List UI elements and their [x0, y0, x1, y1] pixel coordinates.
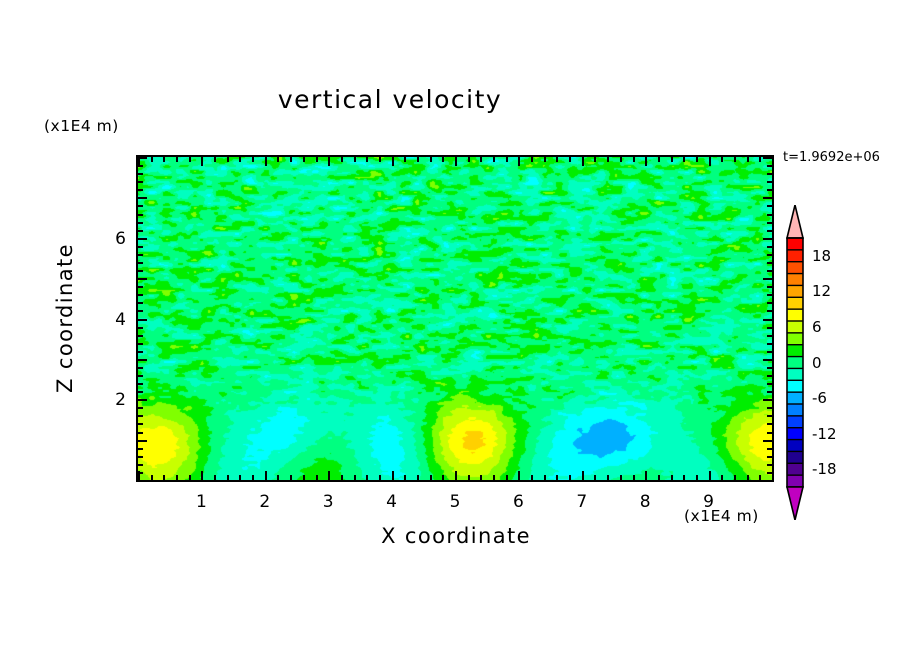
y-minor-tick-right [767, 432, 772, 434]
y-minor-tick [138, 189, 143, 191]
colorbar-band [787, 368, 803, 380]
y-minor-tick-right [767, 254, 772, 256]
y-minor-tick [138, 262, 143, 264]
x-minor-tick-top [556, 157, 558, 162]
x-minor-tick-top [354, 157, 356, 162]
y-major-tick [138, 359, 147, 361]
y-minor-tick [138, 222, 143, 224]
x-major-tick [455, 471, 457, 480]
y-major-tick [138, 480, 147, 482]
y-tick-label: 2 [86, 390, 126, 410]
y-minor-tick-right [767, 230, 772, 232]
x-minor-tick [316, 475, 318, 480]
x-major-tick [518, 471, 520, 480]
x-minor-tick [151, 475, 153, 480]
x-minor-tick [189, 475, 191, 480]
x-minor-tick-top [417, 157, 419, 162]
x-minor-tick [658, 475, 660, 480]
colorbar-band [787, 404, 803, 416]
x-tick-label: 9 [689, 492, 729, 512]
x-minor-tick-top [163, 157, 165, 162]
y-major-tick [138, 319, 147, 321]
x-minor-tick-top [493, 157, 495, 162]
y-minor-tick [138, 335, 143, 337]
colorbar-band [787, 285, 803, 297]
colorbar-band [787, 274, 803, 286]
x-major-tick-top [518, 157, 520, 166]
x-minor-tick-top [252, 157, 254, 162]
x-major-tick-top [201, 157, 203, 166]
colorbar-tick-label: -12 [812, 425, 837, 443]
x-minor-tick-top [544, 157, 546, 162]
x-minor-tick [696, 475, 698, 480]
x-minor-tick [607, 475, 609, 480]
colorbar-tick-label: -18 [812, 460, 837, 478]
y-minor-tick [138, 472, 143, 474]
colorbar-band [787, 475, 803, 487]
y-minor-tick [138, 456, 143, 458]
x-minor-tick-top [442, 157, 444, 162]
y-major-tick [138, 197, 147, 199]
x-minor-tick [430, 475, 432, 480]
colorbar-band [787, 392, 803, 404]
y-minor-tick [138, 423, 143, 425]
x-major-tick-top [392, 157, 394, 166]
y-minor-tick-right [767, 351, 772, 353]
y-minor-tick-right [767, 327, 772, 329]
x-minor-tick [569, 475, 571, 480]
x-minor-tick-top [189, 157, 191, 162]
x-minor-tick-top [366, 157, 368, 162]
colorbar-band [787, 321, 803, 333]
x-major-tick [772, 471, 774, 480]
y-minor-tick [138, 302, 143, 304]
y-minor-tick [138, 286, 143, 288]
x-minor-tick [531, 475, 533, 480]
y-minor-tick [138, 327, 143, 329]
y-major-tick [138, 440, 147, 442]
y-major-tick-right [763, 319, 772, 321]
x-minor-tick [303, 475, 305, 480]
page-title: vertical velocity [0, 85, 780, 114]
y-major-tick-right [763, 238, 772, 240]
x-major-tick-top [709, 157, 711, 166]
x-minor-tick [214, 475, 216, 480]
y-minor-tick [138, 294, 143, 296]
y-major-tick [138, 278, 147, 280]
y-minor-tick-right [767, 173, 772, 175]
y-minor-tick [138, 173, 143, 175]
y-major-tick-right [763, 157, 772, 159]
x-minor-tick-top [594, 157, 596, 162]
y-minor-tick-right [767, 214, 772, 216]
x-minor-tick-top [658, 157, 660, 162]
x-minor-tick [759, 475, 761, 480]
colorbar-band [787, 345, 803, 357]
colorbar-under-arrow [787, 487, 803, 520]
y-minor-tick-right [767, 383, 772, 385]
x-major-tick-top [772, 157, 774, 166]
y-minor-tick [138, 351, 143, 353]
y-minor-tick [138, 246, 143, 248]
x-minor-tick-top [290, 157, 292, 162]
y-axis-unit-label: (x1E4 m) [44, 117, 119, 135]
y-axis-title: Z coordinate [53, 188, 77, 448]
colorbar-band [787, 297, 803, 309]
x-major-tick-top [582, 157, 584, 166]
y-major-tick-right [763, 278, 772, 280]
x-minor-tick [493, 475, 495, 480]
time-annotation: t=1.9692e+06 [783, 150, 880, 165]
colorbar-tick-label: 12 [812, 282, 831, 300]
colorbar-over-arrow [787, 205, 803, 238]
x-minor-tick-top [620, 157, 622, 162]
x-minor-tick [671, 475, 673, 480]
x-minor-tick-top [316, 157, 318, 162]
x-tick-label: 6 [498, 492, 538, 512]
colorbar-band [787, 333, 803, 345]
y-minor-tick [138, 310, 143, 312]
colorbar-tick-label: 6 [812, 318, 822, 336]
y-minor-tick [138, 432, 143, 434]
colorbar-band [787, 262, 803, 274]
x-major-tick-top [645, 157, 647, 166]
colorbar-band [787, 250, 803, 262]
y-minor-tick-right [767, 375, 772, 377]
y-minor-tick [138, 464, 143, 466]
y-minor-tick [138, 375, 143, 377]
colorbar-band [787, 440, 803, 452]
y-minor-tick-right [767, 205, 772, 207]
x-tick-label: 5 [435, 492, 475, 512]
x-minor-tick [506, 475, 508, 480]
x-minor-tick [683, 475, 685, 480]
x-minor-tick [341, 475, 343, 480]
colorbar-band [787, 463, 803, 475]
x-major-tick [265, 471, 267, 480]
x-major-tick [709, 471, 711, 480]
x-tick-label: 1 [181, 492, 221, 512]
x-minor-tick [633, 475, 635, 480]
y-minor-tick-right [767, 270, 772, 272]
y-minor-tick-right [767, 189, 772, 191]
colorbar-band [787, 380, 803, 392]
y-major-tick [138, 238, 147, 240]
x-minor-tick-top [607, 157, 609, 162]
y-minor-tick-right [767, 310, 772, 312]
y-major-tick-right [763, 197, 772, 199]
x-minor-tick-top [531, 157, 533, 162]
y-minor-tick-right [767, 294, 772, 296]
x-tick-label: 7 [562, 492, 602, 512]
x-minor-tick [734, 475, 736, 480]
y-minor-tick-right [767, 246, 772, 248]
x-minor-tick [277, 475, 279, 480]
y-minor-tick-right [767, 423, 772, 425]
y-minor-tick-right [767, 165, 772, 167]
y-minor-tick-right [767, 286, 772, 288]
y-major-tick-right [763, 359, 772, 361]
x-minor-tick-top [480, 157, 482, 162]
x-minor-tick [252, 475, 254, 480]
colorbar-band [787, 416, 803, 428]
y-minor-tick-right [767, 448, 772, 450]
y-minor-tick [138, 165, 143, 167]
x-minor-tick-top [696, 157, 698, 162]
x-minor-tick-top [506, 157, 508, 162]
x-major-tick [328, 471, 330, 480]
y-minor-tick [138, 181, 143, 183]
x-minor-tick-top [569, 157, 571, 162]
y-major-tick-right [763, 440, 772, 442]
y-minor-tick [138, 367, 143, 369]
y-minor-tick-right [767, 181, 772, 183]
x-minor-tick [594, 475, 596, 480]
x-minor-tick [379, 475, 381, 480]
y-major-tick [138, 399, 147, 401]
y-minor-tick [138, 205, 143, 207]
x-minor-tick [556, 475, 558, 480]
colorbar [782, 205, 808, 520]
x-minor-tick-top [633, 157, 635, 162]
x-minor-tick-top [303, 157, 305, 162]
x-minor-tick [239, 475, 241, 480]
x-minor-tick-top [151, 157, 153, 162]
x-minor-tick [747, 475, 749, 480]
x-minor-tick [290, 475, 292, 480]
x-minor-tick-top [683, 157, 685, 162]
y-minor-tick [138, 230, 143, 232]
x-major-tick-top [265, 157, 267, 166]
y-major-tick-right [763, 480, 772, 482]
x-minor-tick [176, 475, 178, 480]
colorbar-tick-label: 0 [812, 354, 822, 372]
x-minor-tick-top [759, 157, 761, 162]
x-minor-tick [354, 475, 356, 480]
y-minor-tick-right [767, 302, 772, 304]
x-minor-tick-top [214, 157, 216, 162]
y-minor-tick-right [767, 407, 772, 409]
colorbar-band [787, 451, 803, 463]
y-minor-tick [138, 415, 143, 417]
x-major-tick [392, 471, 394, 480]
y-minor-tick [138, 391, 143, 393]
x-minor-tick [366, 475, 368, 480]
x-minor-tick [721, 475, 723, 480]
x-axis-title: X coordinate [236, 524, 676, 548]
x-minor-tick [404, 475, 406, 480]
x-major-tick-top [328, 157, 330, 166]
x-minor-tick-top [430, 157, 432, 162]
x-minor-tick-top [341, 157, 343, 162]
x-minor-tick [620, 475, 622, 480]
colorbar-band [787, 428, 803, 440]
y-minor-tick [138, 270, 143, 272]
colorbar-tick-label: 18 [812, 247, 831, 265]
x-minor-tick [468, 475, 470, 480]
contour-field [138, 157, 772, 480]
x-minor-tick [417, 475, 419, 480]
x-major-tick-top [455, 157, 457, 166]
x-minor-tick-top [468, 157, 470, 162]
x-minor-tick-top [277, 157, 279, 162]
y-minor-tick [138, 214, 143, 216]
x-tick-label: 3 [308, 492, 348, 512]
colorbar-band [787, 357, 803, 369]
y-minor-tick [138, 254, 143, 256]
y-minor-tick-right [767, 391, 772, 393]
x-tick-label: 2 [245, 492, 285, 512]
x-major-tick [645, 471, 647, 480]
y-tick-label: 4 [86, 310, 126, 330]
x-tick-label: 8 [625, 492, 665, 512]
contour-plot-area [136, 155, 774, 482]
y-minor-tick-right [767, 222, 772, 224]
y-minor-tick [138, 383, 143, 385]
y-minor-tick-right [767, 262, 772, 264]
colorbar-tick-label: -6 [812, 389, 827, 407]
y-minor-tick-right [767, 472, 772, 474]
x-minor-tick-top [671, 157, 673, 162]
x-minor-tick-top [404, 157, 406, 162]
y-major-tick [138, 157, 147, 159]
y-minor-tick [138, 343, 143, 345]
x-tick-label: 4 [372, 492, 412, 512]
x-minor-tick-top [379, 157, 381, 162]
y-minor-tick-right [767, 464, 772, 466]
y-minor-tick-right [767, 343, 772, 345]
colorbar-band [787, 309, 803, 321]
x-minor-tick [480, 475, 482, 480]
x-minor-tick-top [734, 157, 736, 162]
y-minor-tick [138, 407, 143, 409]
figure-canvas: vertical velocity (x1E4 m) (x1E4 m) X co… [0, 0, 904, 654]
colorbar-band [787, 238, 803, 250]
y-minor-tick-right [767, 367, 772, 369]
x-minor-tick-top [227, 157, 229, 162]
y-minor-tick [138, 448, 143, 450]
y-major-tick-right [763, 399, 772, 401]
x-minor-tick [227, 475, 229, 480]
x-minor-tick-top [721, 157, 723, 162]
y-minor-tick-right [767, 415, 772, 417]
x-minor-tick [544, 475, 546, 480]
y-tick-label: 6 [86, 229, 126, 249]
x-minor-tick-top [747, 157, 749, 162]
x-minor-tick-top [176, 157, 178, 162]
x-major-tick [582, 471, 584, 480]
y-minor-tick-right [767, 335, 772, 337]
x-major-tick [201, 471, 203, 480]
y-minor-tick-right [767, 456, 772, 458]
x-minor-tick [163, 475, 165, 480]
x-minor-tick [442, 475, 444, 480]
x-minor-tick-top [239, 157, 241, 162]
